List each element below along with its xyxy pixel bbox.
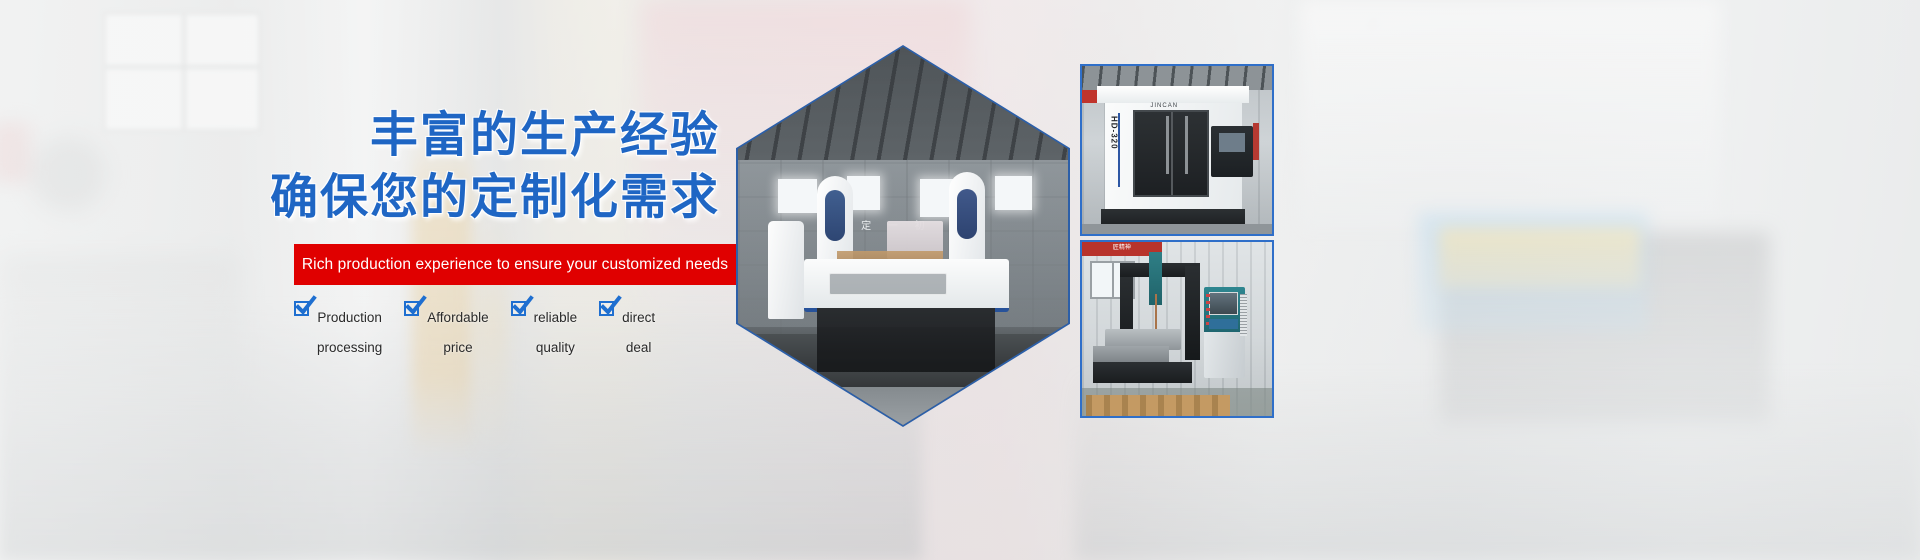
feature-label-line-1: Production <box>317 310 382 325</box>
thumb2-keypad <box>1209 319 1238 329</box>
feature-label-line-1: direct <box>622 310 655 325</box>
hero-window <box>778 179 818 213</box>
hero-shadow <box>738 327 1068 387</box>
feature-item-affordable-price[interactable]: Affordable price <box>404 295 488 355</box>
thumb1-brand-label: JINCAN <box>1150 103 1178 109</box>
headline-line-2: 确保您的定制化需求 <box>0 166 720 228</box>
thumb1-floor <box>1082 224 1272 234</box>
banner-subtitle-text: Rich production experience to ensure you… <box>302 256 728 274</box>
thumb1-red-accent <box>1253 123 1259 160</box>
feature-label-line-2: processing <box>317 340 382 355</box>
checkbox-checked-icon <box>599 301 614 316</box>
thumb2-column-right <box>1185 266 1200 360</box>
thumb2-cabinet-vent <box>1240 294 1248 336</box>
thumb1-door-handle <box>1185 116 1188 173</box>
feature-item-reliable-quality[interactable]: reliable quality <box>511 295 578 355</box>
banner-copy-block: 丰富的生产经验 确保您的定制化需求 Rich production experi… <box>0 0 760 560</box>
feature-item-production-processing[interactable]: Production processing <box>294 295 382 355</box>
thumb2-monitor <box>1209 292 1238 315</box>
thumbnail-edm-machine[interactable]: 匠精神 <box>1080 240 1274 418</box>
feature-label-line-2: quality <box>536 340 575 355</box>
checkbox-checked-icon <box>404 301 419 316</box>
thumb1-enclosure-door <box>1133 110 1209 197</box>
feature-label-line-1: reliable <box>534 310 578 325</box>
thumb1-model-label: HD-320 <box>1110 116 1119 150</box>
hero-machine-bed <box>804 259 1009 312</box>
thumb1-controller-screen <box>1219 133 1246 151</box>
feature-list: Production processing Affordable price r… <box>294 302 742 348</box>
thumb1-door-handle <box>1166 116 1169 173</box>
feature-label-line-2: price <box>443 340 472 355</box>
feature-label: Affordable price <box>427 295 488 355</box>
hero-machine-column-left <box>768 221 804 319</box>
feature-label: reliable quality <box>534 295 578 355</box>
thumbnail-hd320-machining-center[interactable]: 奋力 HD-320 JINCAN <box>1080 64 1274 236</box>
checkbox-checked-icon <box>511 301 526 316</box>
hero-hexagon-image[interactable]: 定 一 初 <box>736 45 1070 427</box>
hexagon-photo: 定 一 初 <box>738 47 1068 425</box>
feature-label: Production processing <box>317 295 382 355</box>
hexagon-border: 定 一 初 <box>736 45 1070 427</box>
feature-label-line-2: deal <box>626 340 652 355</box>
hero-ceiling <box>738 47 1068 176</box>
banner-subtitle-ribbon: Rich production experience to ensure you… <box>294 244 736 285</box>
banner-headline: 丰富的生产经验 确保您的定制化需求 <box>0 104 720 228</box>
thumb1-machine-hood <box>1097 86 1249 103</box>
feature-label: direct deal <box>622 295 655 355</box>
feature-label-line-1: Affordable <box>427 310 488 325</box>
feature-item-direct-deal[interactable]: direct deal <box>599 295 655 355</box>
thumb2-machine-bed <box>1093 362 1192 383</box>
headline-line-1: 丰富的生产经验 <box>370 107 720 163</box>
thumb2-wood-pallet <box>1086 395 1230 416</box>
checkbox-checked-icon <box>294 301 309 316</box>
hero-window <box>995 176 1031 210</box>
